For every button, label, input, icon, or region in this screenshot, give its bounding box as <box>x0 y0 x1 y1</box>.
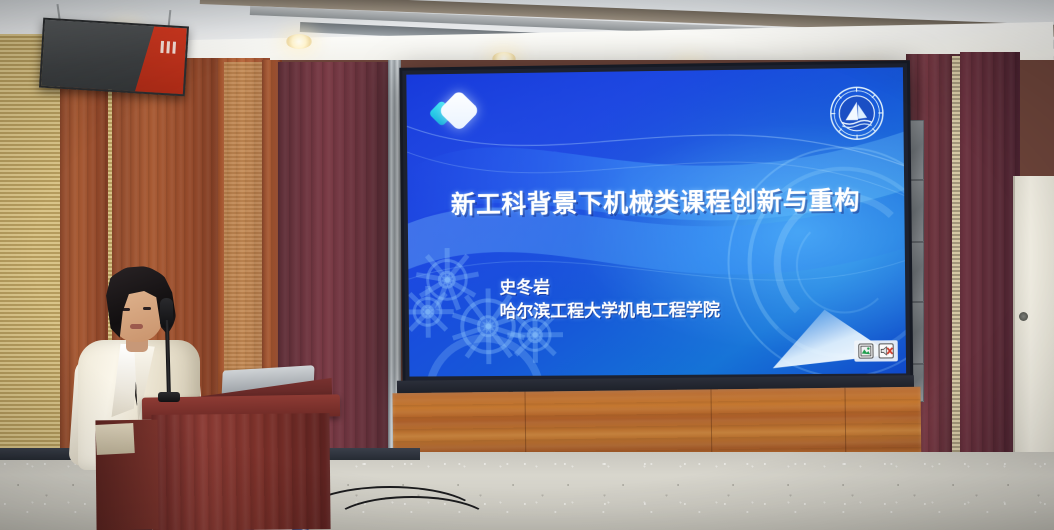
display-switch-icon[interactable] <box>858 343 873 358</box>
door-knob[interactable] <box>1019 312 1028 321</box>
presenter-name: 史冬岩 <box>499 274 720 300</box>
slide-tray <box>854 340 898 361</box>
presenter-affiliation: 哈尔滨工程大学机电工程学院 <box>500 299 721 325</box>
presenter-mouth <box>130 324 143 329</box>
hud-arc-graphic <box>795 216 893 313</box>
white-diamond-icon <box>438 90 480 132</box>
wall-dark-wood-panel <box>960 52 1020 496</box>
microphone-base <box>158 392 180 402</box>
speaker-brand-bars <box>160 41 176 54</box>
hanging-loudspeaker <box>39 18 189 97</box>
ceiling-downlight <box>286 34 312 49</box>
slide-title: 新工科背景下机械类课程创新与重构 <box>407 180 904 222</box>
led-display-frame: 新工科背景下机械类课程创新与重构 史冬岩 哈尔滨工程大学机电工程学院 <box>399 60 913 383</box>
lecture-hall-photo: 新工科背景下机械类课程创新与重构 史冬岩 哈尔滨工程大学机电工程学院 <box>0 0 1054 530</box>
gear-graphic <box>413 297 443 327</box>
wall-slat-panel <box>0 34 66 504</box>
gear-teeth <box>408 292 448 332</box>
speaker-muted-icon[interactable] <box>878 343 893 358</box>
lectern-body <box>151 413 330 530</box>
led-display-screen[interactable]: 新工科背景下机械类课程创新与重构 史冬岩 哈尔滨工程大学机电工程学院 <box>406 67 906 376</box>
slide-presenter-block: 史冬岩 哈尔滨工程大学机电工程学院 <box>499 274 720 324</box>
side-door[interactable] <box>1013 176 1054 490</box>
harbin-engineering-university-emblem-icon <box>828 85 885 142</box>
speaker-accent-panel <box>135 25 187 94</box>
lectern-shelf <box>95 423 135 455</box>
presenter-eye <box>143 307 151 310</box>
